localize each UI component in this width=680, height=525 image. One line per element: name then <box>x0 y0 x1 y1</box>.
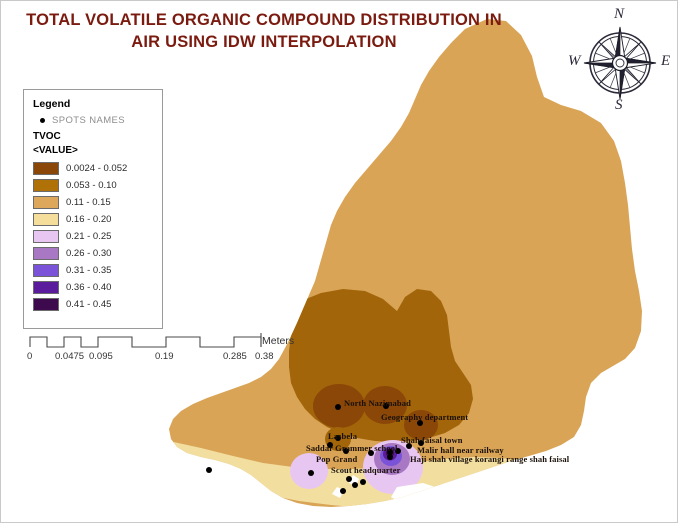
legend-class-swatch <box>33 230 59 243</box>
scale-bar-units: Meters <box>262 335 294 347</box>
legend-class-label: 0.21 - 0.25 <box>66 231 111 242</box>
spot-marker[interactable] <box>360 479 366 485</box>
legend-spots-entry[interactable]: SPOTS NAMES <box>40 115 162 126</box>
legend-heading: Legend <box>33 98 162 110</box>
scale-tick-label: 0 <box>27 351 32 362</box>
legend-class-swatch <box>33 162 59 175</box>
page-title: TOTAL VOLATILE ORGANIC COMPOUND DISTRIBU… <box>19 9 509 53</box>
spot-marker-icon <box>40 118 45 123</box>
legend-class-row[interactable]: 0.31 - 0.35 <box>33 262 162 278</box>
legend-class-swatch <box>33 179 59 192</box>
spot-marker[interactable] <box>206 467 212 473</box>
legend-class-row[interactable]: 0.41 - 0.45 <box>33 296 162 312</box>
legend-class-swatch <box>33 196 59 209</box>
place-label: Lasbela <box>328 431 357 441</box>
scale-tick-label: 0.19 <box>155 351 174 362</box>
place-label: Geography department <box>381 412 468 422</box>
legend-class-label: 0.11 - 0.15 <box>66 197 111 208</box>
legend-class-row[interactable]: 0.21 - 0.25 <box>33 228 162 244</box>
legend-class-row[interactable]: 0.053 - 0.10 <box>33 177 162 193</box>
compass-east-label: E <box>661 53 670 70</box>
legend-class-row[interactable]: 0.0024 - 0.052 <box>33 160 162 176</box>
legend-spots-label: SPOTS NAMES <box>52 115 125 126</box>
spot-marker[interactable] <box>387 454 393 460</box>
legend-field-name: <VALUE> <box>33 145 162 156</box>
legend-class-swatch <box>33 281 59 294</box>
legend-class-row[interactable]: 0.36 - 0.40 <box>33 279 162 295</box>
compass-west-label: W <box>568 53 581 70</box>
legend-panel[interactable]: Legend SPOTS NAMES TVOC <VALUE> 0.0024 -… <box>23 89 163 329</box>
scale-bar-graphic <box>23 331 293 351</box>
spot-marker[interactable] <box>340 488 346 494</box>
place-label: North Nazimabad <box>344 398 411 408</box>
legend-layer-name: TVOC <box>33 131 162 142</box>
spot-marker[interactable] <box>346 476 352 482</box>
map-figure: North NazimabadGeography departmentLasbe… <box>0 0 678 523</box>
spot-marker[interactable] <box>352 482 358 488</box>
legend-class-label: 0.31 - 0.35 <box>66 265 111 276</box>
compass-north-label: N <box>614 6 624 23</box>
legend-class-swatch <box>33 213 59 226</box>
legend-class-list: 0.0024 - 0.0520.053 - 0.100.11 - 0.150.1… <box>33 160 162 312</box>
legend-class-swatch <box>33 298 59 311</box>
place-label: Shah faisal town <box>401 435 463 445</box>
place-label: Saddar Grammer school <box>306 443 398 453</box>
spot-marker[interactable] <box>335 404 341 410</box>
legend-class-label: 0.0024 - 0.052 <box>66 163 127 174</box>
legend-class-swatch <box>33 264 59 277</box>
scale-tick-label: 0.285 <box>223 351 247 362</box>
spot-marker[interactable] <box>308 470 314 476</box>
place-label: Haji shah village korangi range shah fai… <box>410 454 569 464</box>
title-line-2: AIR USING IDW INTERPOLATION <box>19 31 509 53</box>
scale-tick-label: 0.095 <box>89 351 113 362</box>
legend-class-swatch <box>33 247 59 260</box>
place-label: Pop Grand <box>316 454 357 464</box>
legend-class-label: 0.053 - 0.10 <box>66 180 117 191</box>
title-line-1: TOTAL VOLATILE ORGANIC COMPOUND DISTRIBU… <box>26 11 502 29</box>
legend-class-row[interactable]: 0.26 - 0.30 <box>33 245 162 261</box>
scale-tick-label: 0.38 <box>255 351 274 362</box>
legend-class-label: 0.36 - 0.40 <box>66 282 111 293</box>
compass-south-label: S <box>615 97 623 114</box>
legend-class-label: 0.26 - 0.30 <box>66 248 111 259</box>
legend-class-row[interactable]: 0.11 - 0.15 <box>33 194 162 210</box>
scale-bar: 00.04750.0950.190.2850.38 Meters <box>23 331 293 363</box>
legend-class-label: 0.16 - 0.20 <box>66 214 111 225</box>
legend-class-row[interactable]: 0.16 - 0.20 <box>33 211 162 227</box>
scale-tick-label: 0.0475 <box>55 351 84 362</box>
legend-class-label: 0.41 - 0.45 <box>66 299 111 310</box>
place-label: Scout headquarter <box>331 465 400 475</box>
compass-rose: N W E S <box>564 7 676 119</box>
